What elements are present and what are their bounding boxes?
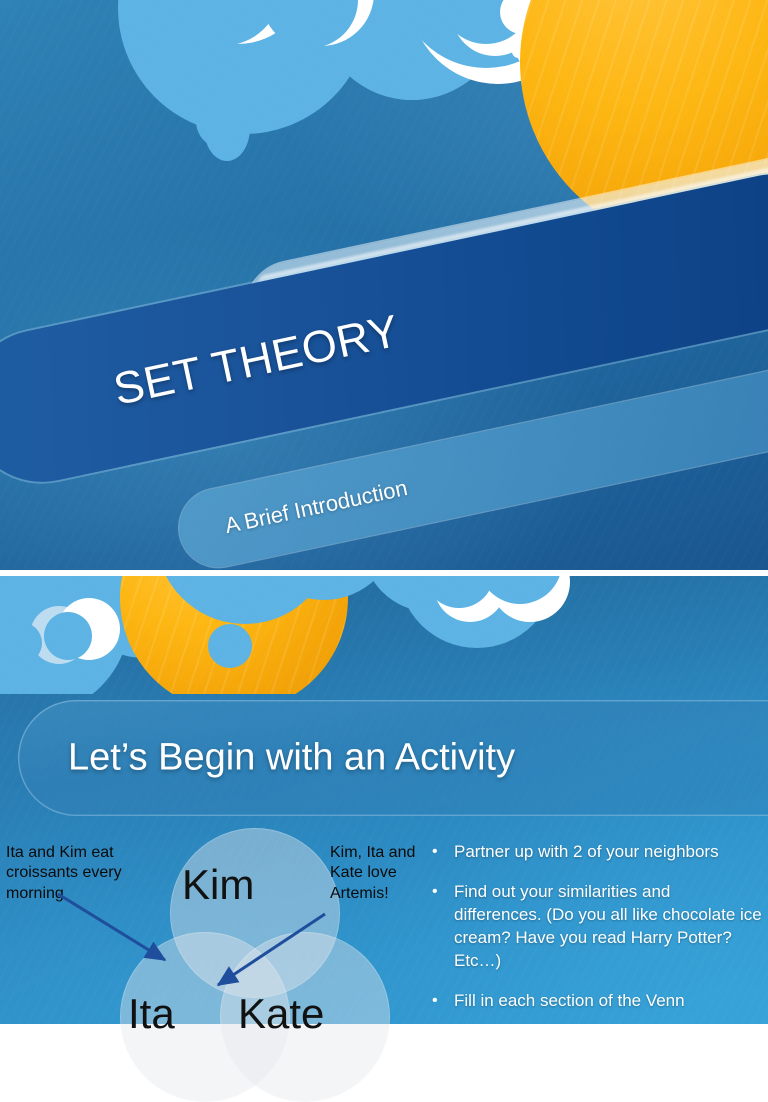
bullet-text: Fill in each section of the Venn	[454, 989, 685, 1012]
slide-2-title: Let’s Begin with an Activity	[68, 737, 515, 780]
venn-annotation-left: Ita and Kim eat croissants every morning	[6, 843, 146, 904]
bullet-text: Find out your similarities and differenc…	[454, 880, 762, 972]
slide-2-title-bar: Let’s Begin with an Activity	[18, 700, 768, 816]
slide-1-title-slide: A Brief Introduction SET THEORY	[0, 0, 768, 570]
bullet-marker-icon: •	[432, 880, 454, 903]
venn-label-ita: Ita	[128, 990, 175, 1038]
bullet-text: Partner up with 2 of your neighbors	[454, 840, 719, 863]
venn-label-kim: Kim	[182, 861, 254, 909]
bullet-item: • Partner up with 2 of your neighbors	[432, 840, 762, 863]
bullet-item: • Find out your similarities and differe…	[432, 880, 762, 972]
bullet-marker-icon: •	[432, 989, 454, 1012]
bullet-item: • Fill in each section of the Venn	[432, 989, 762, 1012]
bullet-marker-icon: •	[432, 840, 454, 863]
activity-bullet-list: • Partner up with 2 of your neighbors • …	[432, 840, 762, 1029]
slide-1-subtitle: A Brief Introduction	[223, 475, 410, 539]
venn-label-kate: Kate	[238, 990, 324, 1038]
slide-1-title: SET THEORY	[109, 305, 404, 416]
venn-annotation-right: Kim, Ita and Kate love Artemis!	[330, 843, 420, 904]
slide-deck: A Brief Introduction SET THEORY	[0, 0, 768, 1024]
